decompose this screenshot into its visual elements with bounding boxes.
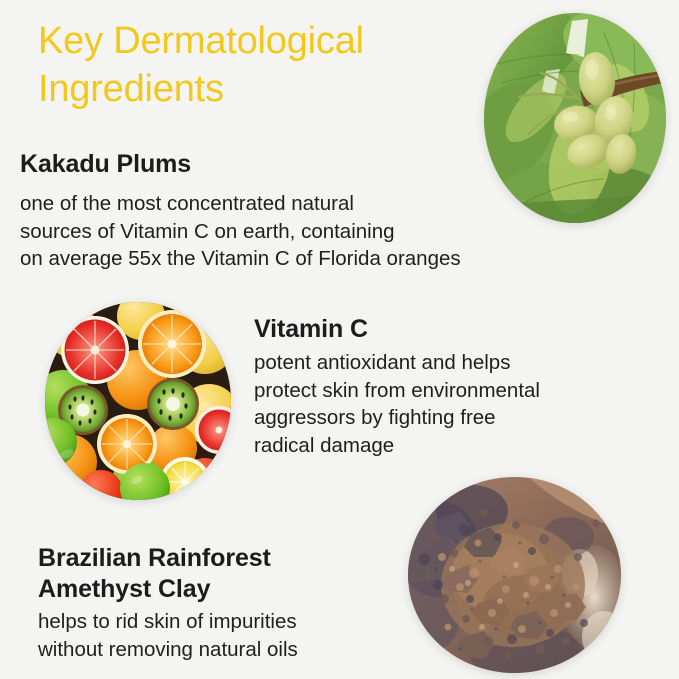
kakadu-plum-tree-photo — [484, 13, 666, 223]
ingredient-body-vitamin-c: potent antioxidant and helps protect ski… — [254, 349, 654, 459]
amethyst-clay-photo — [408, 477, 621, 673]
ingredient-heading-vitamin-c: Vitamin C — [254, 313, 368, 345]
ingredient-body-brazilian-rainforest-amethyst-clay: helps to rid skin of impurities without … — [38, 608, 408, 663]
page-title: Key Dermatological Ingredients — [38, 17, 508, 113]
ingredients-infographic: Key Dermatological Ingredients Kakadu Pl… — [0, 0, 679, 679]
ingredient-heading-brazilian-rainforest-amethyst-clay: Brazilian Rainforest Amethyst Clay — [38, 543, 368, 605]
ingredient-heading-kakadu-plums: Kakadu Plums — [20, 148, 191, 180]
citrus-fruit-photo — [45, 302, 231, 500]
